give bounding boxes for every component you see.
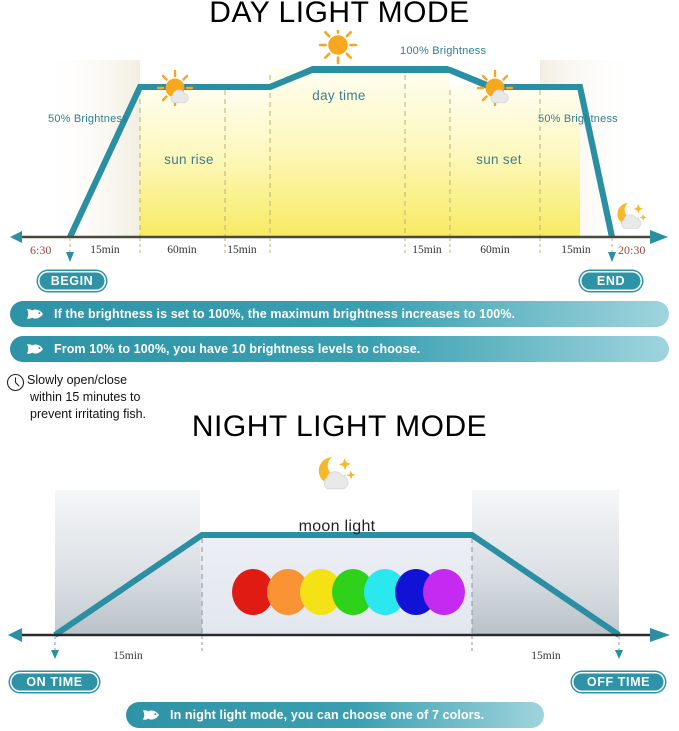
segment-label: 60min [465,244,525,256]
axis-arrow-right [650,628,670,642]
night-info-banner: In night light mode, you can choose one … [126,702,544,728]
end-time-label: 20:30 [618,243,645,258]
color-swatch-row [232,569,465,615]
clock-icon [6,373,25,392]
info-banner-text: If the brightness is set to 100%, the ma… [54,307,515,321]
end-badge[interactable]: END [580,271,642,291]
segment-label: 15min [397,244,457,256]
slow-note-line-1: Slowly open/close [6,372,186,389]
crescent-moon-stars-cloud-icon [319,457,355,489]
info-banner: If the brightness is set to 100%, the ma… [10,301,669,327]
off-time-badge[interactable]: OFF TIME [572,672,665,692]
begin-badge[interactable]: BEGIN [38,271,106,291]
night-background-band [472,490,619,635]
segment-label: 60min [152,244,212,256]
sunrise-zone-label: sun rise [146,152,232,167]
slow-note-line-2: within 15 minutes to [30,389,186,406]
info-banner: From 10% to 100%, you have 10 brightness… [10,336,669,362]
segment-label: 15min [546,244,606,256]
start-time-label: 6:30 [30,243,51,258]
segment-label: 15min [75,244,135,256]
sun-icon [320,30,356,63]
sun-behind-cloud-icon [478,71,512,105]
fish-icon [26,308,45,320]
night-mode-title: NIGHT LIGHT MODE [0,410,679,444]
night-segment-label: 15min [98,650,158,662]
left-brightness-note: 50% Brightness [48,113,128,125]
sunset-zone-label: sun set [458,152,540,167]
night-light-chart [0,450,679,660]
night-info-banner-text: In night light mode, you can choose one … [170,708,484,722]
axis-arrow-left [8,628,22,642]
right-brightness-note: 50% Brightness [538,113,618,125]
begin-end-arrows [66,252,616,262]
fish-icon [142,709,161,721]
segment-label: 15min [212,244,272,256]
on-time-badge[interactable]: ON TIME [10,672,99,692]
left-fade-band [40,60,140,237]
moonlight-zone-label: moon light [202,518,472,536]
axis-arrow-right [650,230,668,244]
daytime-zone-label: day time [290,88,388,103]
sun-behind-cloud-icon [158,71,192,105]
color-swatch[interactable] [423,569,465,615]
day-mode-title: DAY LIGHT MODE [0,0,679,30]
info-banner-text: From 10% to 100%, you have 10 brightness… [54,342,420,356]
night-background-band [55,490,200,635]
peak-brightness-note: 100% Brightness [400,45,486,57]
fish-icon [26,343,45,355]
axis-arrow-left [10,231,22,243]
night-segment-label: 15min [516,650,576,662]
